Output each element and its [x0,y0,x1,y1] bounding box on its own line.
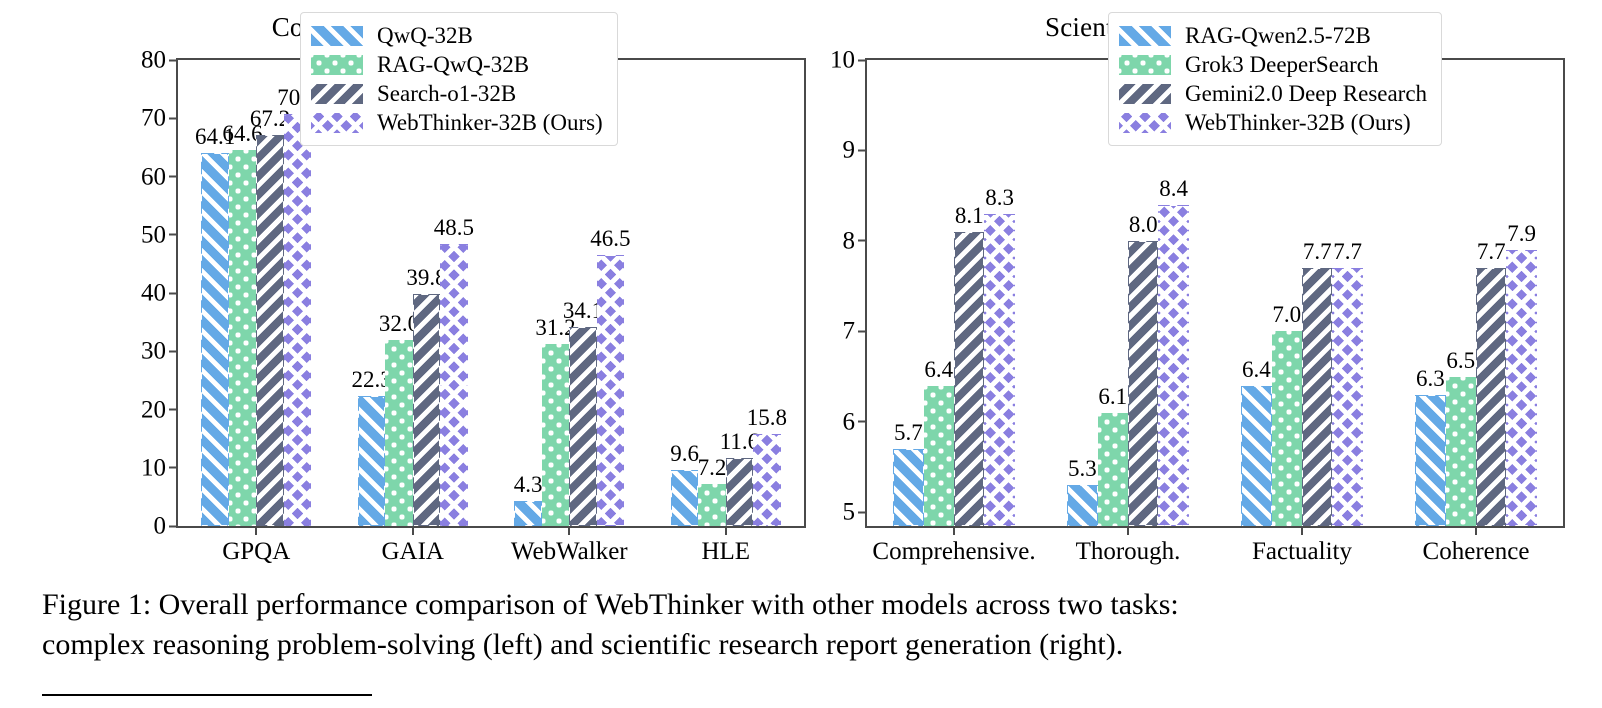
legend-left: QwQ-32BRAG-QwQ-32BSearch-o1-32BWebThinke… [300,12,618,146]
bar[interactable] [984,214,1014,526]
y-axis-tick-left: 0 [154,514,179,539]
y-axis-tick-left: 40 [141,281,178,306]
bar-value-label: 5.7 [894,421,923,444]
legend-swatch-icon [1119,84,1171,104]
bar-slot: 7.7 [1476,60,1506,526]
legend-label: WebThinker-32B (Ours) [377,111,603,134]
x-axis-tick-mark [953,526,955,535]
bar-value-label: 6.5 [1446,349,1475,372]
bar-slot: 5.7 [893,60,923,526]
chart-panel-complex-problem-solving: Complex Problem Solving Overall Performa… [0,0,820,575]
bar-value-label: 8.0 [1129,213,1158,236]
x-axis-tick-mark [412,526,414,535]
y-axis-tick-right: 7 [843,319,868,344]
x-axis-tick-mark [1301,526,1303,535]
bar-value-label: 9.6 [670,442,699,465]
legend-right: RAG-Qwen2.5-72BGrok3 DeeperSearchGemini2… [1108,12,1442,146]
legend-label: RAG-QwQ-32B [377,53,529,76]
legend-label: RAG-Qwen2.5-72B [1185,24,1371,47]
caption-line-1: Figure 1: Overall performance comparison… [42,585,1572,625]
x-axis-tick-label: HLE [701,538,750,566]
legend-swatch-icon [311,55,363,75]
bar[interactable] [1332,268,1362,526]
bar-slot: 67.2 [256,60,283,526]
bar[interactable] [1241,386,1271,526]
bar[interactable] [954,232,984,526]
legend-swatch-icon [1119,55,1171,75]
y-axis-tick-left: 80 [141,48,178,73]
bar-value-label: 8.3 [985,186,1014,209]
bar[interactable] [569,327,596,526]
legend-swatch-icon [311,26,363,46]
bar-slot: 11.6 [726,60,753,526]
legend-item[interactable]: WebThinker-32B (Ours) [311,108,603,137]
bar[interactable] [597,255,624,526]
legend-label: WebThinker-32B (Ours) [1185,111,1411,134]
footnote-rule [42,694,372,696]
bar-slot: 6.4 [924,60,954,526]
bar-value-label: 7.2 [698,456,727,479]
legend-swatch-icon [1119,26,1171,46]
bar[interactable] [1506,250,1536,526]
chart-panel-scientific-report-generation: Scientific Report Generation 56789105.76… [820,0,1602,575]
y-axis-tick-left: 20 [141,397,178,422]
legend-label: Search-o1-32B [377,82,516,105]
bar-value-label: 6.3 [1416,367,1445,390]
legend-swatch-icon [1119,113,1171,133]
bar[interactable] [514,501,541,526]
bar[interactable] [1476,268,1506,526]
bar-value-label: 8.4 [1159,177,1188,200]
caption-line-2: complex reasoning problem-solving (left)… [42,625,1572,665]
legend-label: Gemini2.0 Deep Research [1185,82,1427,105]
legend-item[interactable]: RAG-Qwen2.5-72B [1119,21,1427,50]
y-axis-tick-left: 10 [141,455,178,480]
bar[interactable] [1415,395,1445,526]
legend-item[interactable]: WebThinker-32B (Ours) [1119,108,1427,137]
bar[interactable] [256,135,283,526]
bar[interactable] [924,386,954,526]
legend-label: QwQ-32B [377,24,473,47]
y-axis-tick-right: 9 [843,138,868,163]
legend-item[interactable]: Grok3 DeeperSearch [1119,50,1427,79]
bar-slot: 8.1 [954,60,984,526]
bar[interactable] [385,340,412,526]
legend-item[interactable]: Gemini2.0 Deep Research [1119,79,1427,108]
bar-value-label: 6.4 [1242,358,1271,381]
bar-slot: 7.9 [1506,60,1536,526]
x-axis-tick-mark [568,526,570,535]
y-axis-tick-right: 5 [843,500,868,525]
figure-caption: Figure 1: Overall performance comparison… [42,585,1572,665]
bar[interactable] [358,396,385,526]
x-axis-tick-label: GAIA [382,538,445,566]
legend-swatch-icon [311,84,363,104]
bar-slot: 8.3 [984,60,1014,526]
bar-slot: 5.3 [1067,60,1097,526]
y-axis-tick-left: 30 [141,339,178,364]
legend-swatch-icon [311,113,363,133]
y-axis-tick-left: 70 [141,106,178,131]
bar[interactable] [1067,485,1097,526]
bar[interactable] [1098,413,1128,526]
bar[interactable] [542,344,569,526]
bar-value-label: 8.1 [955,204,984,227]
y-axis-tick-right: 6 [843,409,868,434]
bar-value-label: 6.1 [1098,385,1127,408]
bar[interactable] [753,434,780,526]
x-axis-tick-label: WebWalker [511,538,628,566]
y-axis-tick-left: 50 [141,222,178,247]
bar-slot: 9.6 [671,60,698,526]
bar[interactable] [698,484,725,526]
bar-value-label: 7.7 [1303,240,1332,263]
bar-slot: 7.2 [698,60,725,526]
x-axis-tick-label: Coherence [1423,538,1530,566]
x-axis-tick-mark [725,526,727,535]
bar-value-label: 46.5 [590,227,630,250]
bar-slot: 15.8 [753,60,780,526]
x-axis-tick-label: Factuality [1252,538,1352,566]
bar-group: 5.76.48.18.3 [867,60,1041,526]
x-axis-tick-mark [1475,526,1477,535]
bar-value-label: 5.3 [1068,457,1097,480]
x-axis-tick-mark [255,526,257,535]
bar[interactable] [1302,268,1332,526]
bar[interactable] [413,294,440,526]
bar-value-label: 48.5 [434,216,474,239]
figure-root: Complex Problem Solving Overall Performa… [0,0,1602,708]
bar[interactable] [726,458,753,526]
x-axis-tick-label: GPQA [222,538,290,566]
legend-label: Grok3 DeeperSearch [1185,53,1379,76]
x-axis-tick-label: Thorough. [1076,538,1181,566]
bar-value-label: 15.8 [747,406,787,429]
bar[interactable] [284,114,311,526]
bar[interactable] [1128,241,1158,526]
bar-value-label: 6.4 [924,358,953,381]
bar[interactable] [229,150,256,526]
bar-value-label: 4.3 [514,473,543,496]
bar[interactable] [1272,331,1302,526]
bar[interactable] [201,153,228,526]
x-axis-tick-label: Comprehensive. [872,538,1035,566]
bar-slot: 6.5 [1446,60,1476,526]
bar-value-label: 7.9 [1507,222,1536,245]
bar-value-label: 7.7 [1477,240,1506,263]
y-axis-tick-right: 8 [843,228,868,253]
y-axis-tick-right: 10 [830,48,867,73]
bar-group: 9.67.211.615.8 [648,60,805,526]
bar[interactable] [893,449,923,526]
bar[interactable] [440,244,467,527]
y-axis-tick-left: 60 [141,164,178,189]
legend-item[interactable]: Search-o1-32B [311,79,603,108]
bar[interactable] [671,470,698,526]
legend-item[interactable]: QwQ-32B [311,21,603,50]
bar-value-label: 7.7 [1333,240,1362,263]
x-axis-tick-mark [1127,526,1129,535]
bar[interactable] [1158,205,1188,526]
legend-item[interactable]: RAG-QwQ-32B [311,50,603,79]
bar[interactable] [1446,377,1476,526]
bar-value-label: 7.0 [1272,303,1301,326]
